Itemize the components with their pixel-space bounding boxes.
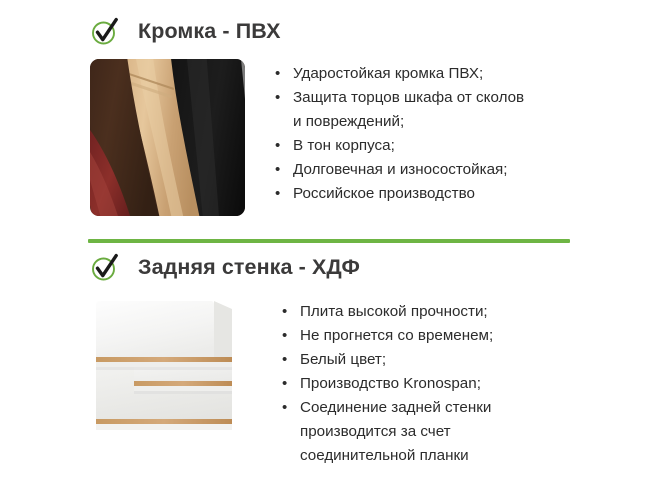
feature-list-hdf-back-panel: Плита высокой прочности; Не прогнется со… [282, 295, 652, 468]
section-heading-pvc-edge: Кромка - ПВХ [0, 12, 652, 52]
feature-section-hdf-back-panel: Задняя стенка - ХДФ [0, 248, 652, 468]
section-heading-hdf-back-panel: Задняя стенка - ХДФ [0, 248, 652, 288]
list-item: Белый цвет; [282, 348, 652, 372]
list-item: Плита высокой прочности; [282, 300, 652, 324]
green-circle-checkmark-icon [90, 253, 120, 283]
list-item: В тон корпуса; [275, 134, 652, 158]
section-title: Задняя стенка - ХДФ [138, 257, 360, 279]
section-title: Кромка - ПВХ [138, 21, 281, 43]
list-item: Ударостойкая кромка ПВХ; [275, 62, 652, 86]
list-item: Соединение задней стенки производится за… [282, 396, 652, 468]
feature-section-pvc-edge: Кромка - ПВХ [0, 12, 652, 216]
section-body-pvc-edge: Ударостойкая кромка ПВХ; Защита торцов ш… [0, 59, 652, 216]
list-item: Не прогнется со временем; [282, 324, 652, 348]
list-item: Российское производство [275, 182, 652, 206]
section-divider [88, 239, 570, 243]
list-item: Производство Kronospan; [282, 372, 652, 396]
list-item: Долговечная и износостойкая; [275, 158, 652, 182]
section-body-hdf-back-panel: Плита высокой прочности; Не прогнется со… [0, 295, 652, 468]
list-item: Защита торцов шкафа от сколов и поврежде… [275, 86, 652, 134]
product-features-page: Кромка - ПВХ [0, 0, 652, 500]
pvc-edge-banding-photo [90, 59, 245, 216]
hdf-back-panel-photo [90, 295, 242, 450]
green-circle-checkmark-icon [90, 17, 120, 47]
feature-list-pvc-edge: Ударостойкая кромка ПВХ; Защита торцов ш… [275, 59, 652, 206]
